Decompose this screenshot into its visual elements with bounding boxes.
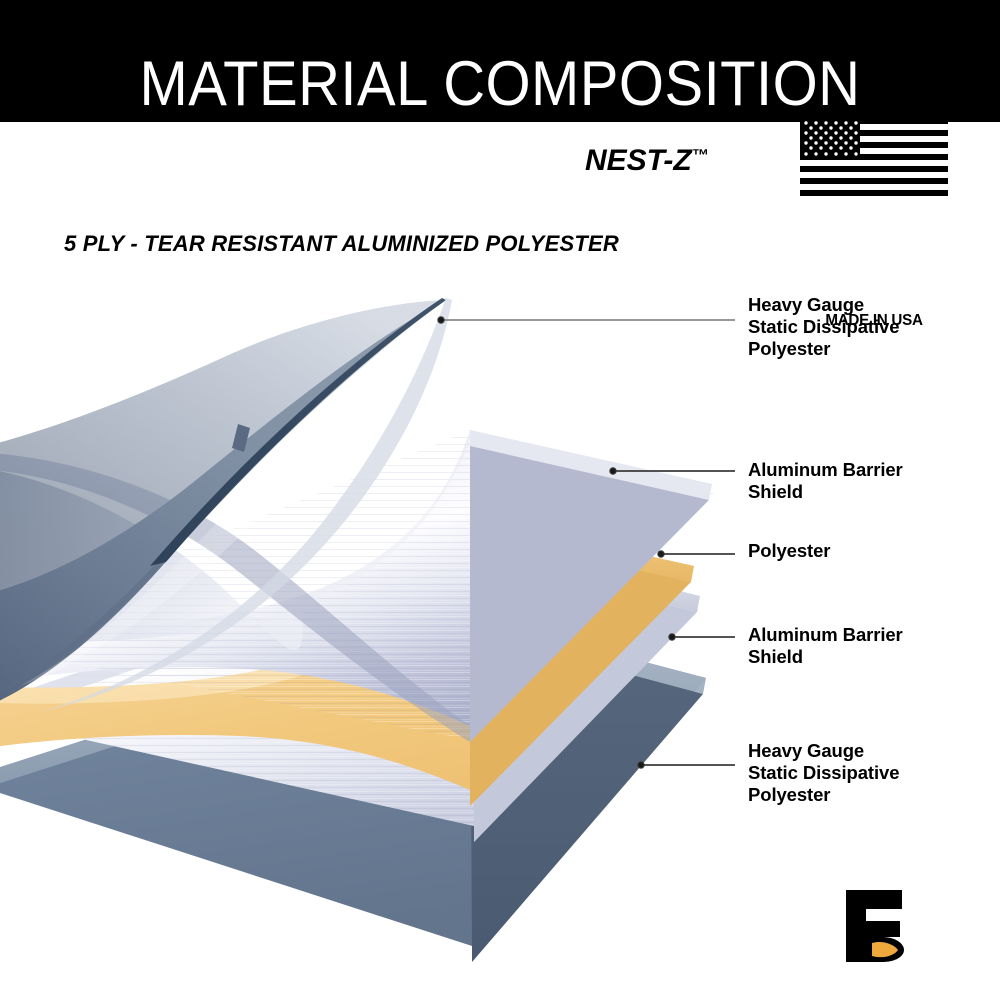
leader-lines [438,317,735,768]
callout-label-aluminum-barrier-upper: Aluminum Barrier Shield [748,459,903,503]
leader-line-2 [610,468,735,474]
leader-line-3 [658,551,735,557]
layer-4-aluminum-barrier-shield [0,530,720,842]
trademark-symbol: ™ [692,146,709,165]
infographic-page: MATERIAL COMPOSITION NEST-Z™ [0,0,1000,1000]
callout-label-polyester: Polyester [748,540,830,562]
layer-5-heavy-gauge-polyester [0,616,706,962]
brand-name: NEST-Z™ [585,144,709,178]
page-title: MATERIAL COMPOSITION [40,52,960,116]
leader-line-1 [438,317,735,323]
leader-line-5 [638,762,735,768]
leader-line-4 [669,634,735,640]
layer-1-heavy-gauge-polyester [0,298,452,716]
layer-2-aluminum-barrier-shield [0,420,740,750]
callout-label-aluminum-barrier-lower: Aluminum Barrier Shield [748,624,903,668]
subtitle: 5 PLY - TEAR RESISTANT ALUMINIZED POLYES… [64,231,619,257]
layer-3-polyester [0,516,694,806]
made-in-usa-badge: MADE IN USA [800,118,948,218]
brand-name-text: NEST-Z [585,144,692,177]
company-logo [838,884,916,968]
callout-label-heavy-gauge-bottom: Heavy Gauge Static Dissipative Polyester [748,740,899,806]
callout-label-heavy-gauge-top: Heavy Gauge Static Dissipative Polyester [748,294,899,360]
us-flag-icon [800,118,948,196]
